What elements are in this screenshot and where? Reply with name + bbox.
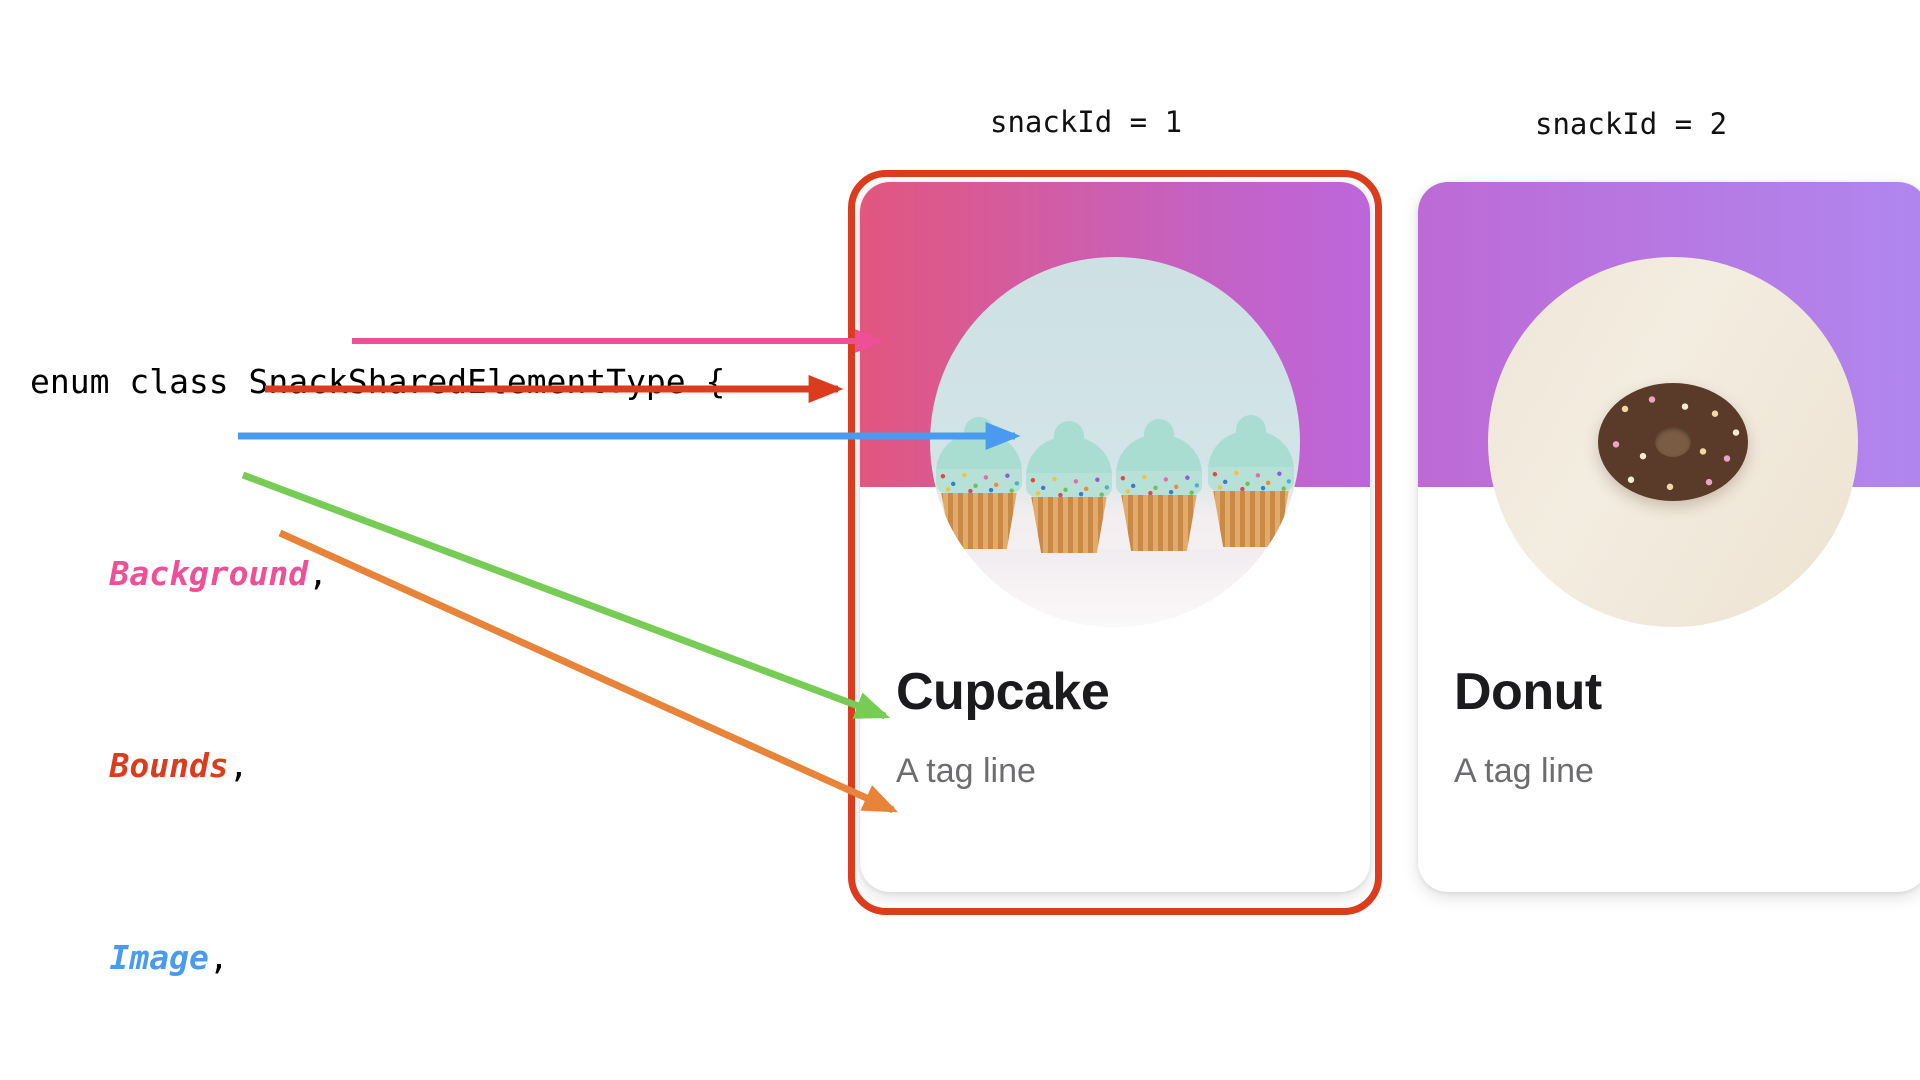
code-line-enum-1: Bounds, [30,742,725,790]
code-comma: , [209,938,229,977]
cupcake-liner [938,493,1020,549]
table-surface [930,549,1300,627]
card-title-cupcake: Cupcake [896,662,1109,722]
diagram-canvas: enum class SnackSharedElementType { Back… [0,0,1920,1080]
card-image-donut [1488,257,1858,627]
donut-ring [1598,383,1748,501]
snack-id-label-2: snackId = 2 [1535,107,1727,141]
enum-entry-bounds: Bounds [109,746,228,785]
cupcake-item [1026,437,1112,553]
code-header-text: enum class SnackSharedElementType { [30,362,725,401]
card-image-cupcake [930,257,1300,627]
cupcake-item [1208,431,1294,547]
cupcake-liner [1210,491,1292,547]
enum-entry-background: Background [109,554,308,593]
card-tagline-donut: A tag line [1454,752,1594,791]
code-line-declaration: enum class SnackSharedElementType { [30,358,725,406]
sprinkles [936,469,1022,493]
donut-photo [1488,257,1858,627]
snack-id-label-1: snackId = 1 [990,105,1182,139]
cupcake-item [936,433,1022,549]
donut-hole [1655,427,1691,457]
snack-card-cupcake[interactable]: Cupcake A tag line [860,182,1370,892]
card-title-donut: Donut [1454,662,1602,722]
cupcake-liner [1118,495,1200,551]
cupcake-liner [1028,497,1110,553]
cupcake-item [1116,435,1202,551]
code-comma: , [229,746,249,785]
sprinkles [1208,467,1294,491]
cupcake-photo [930,257,1300,627]
code-comma: , [308,554,328,593]
sprinkles [1026,473,1112,497]
code-line-enum-2: Image, [30,934,725,982]
sprinkles [1116,471,1202,495]
code-snippet: enum class SnackSharedElementType { Back… [30,262,725,1080]
code-line-enum-0: Background, [30,550,725,598]
snack-card-donut[interactable]: Donut A tag line [1418,182,1920,892]
enum-entry-image: Image [109,938,208,977]
card-tagline-cupcake: A tag line [896,752,1036,791]
